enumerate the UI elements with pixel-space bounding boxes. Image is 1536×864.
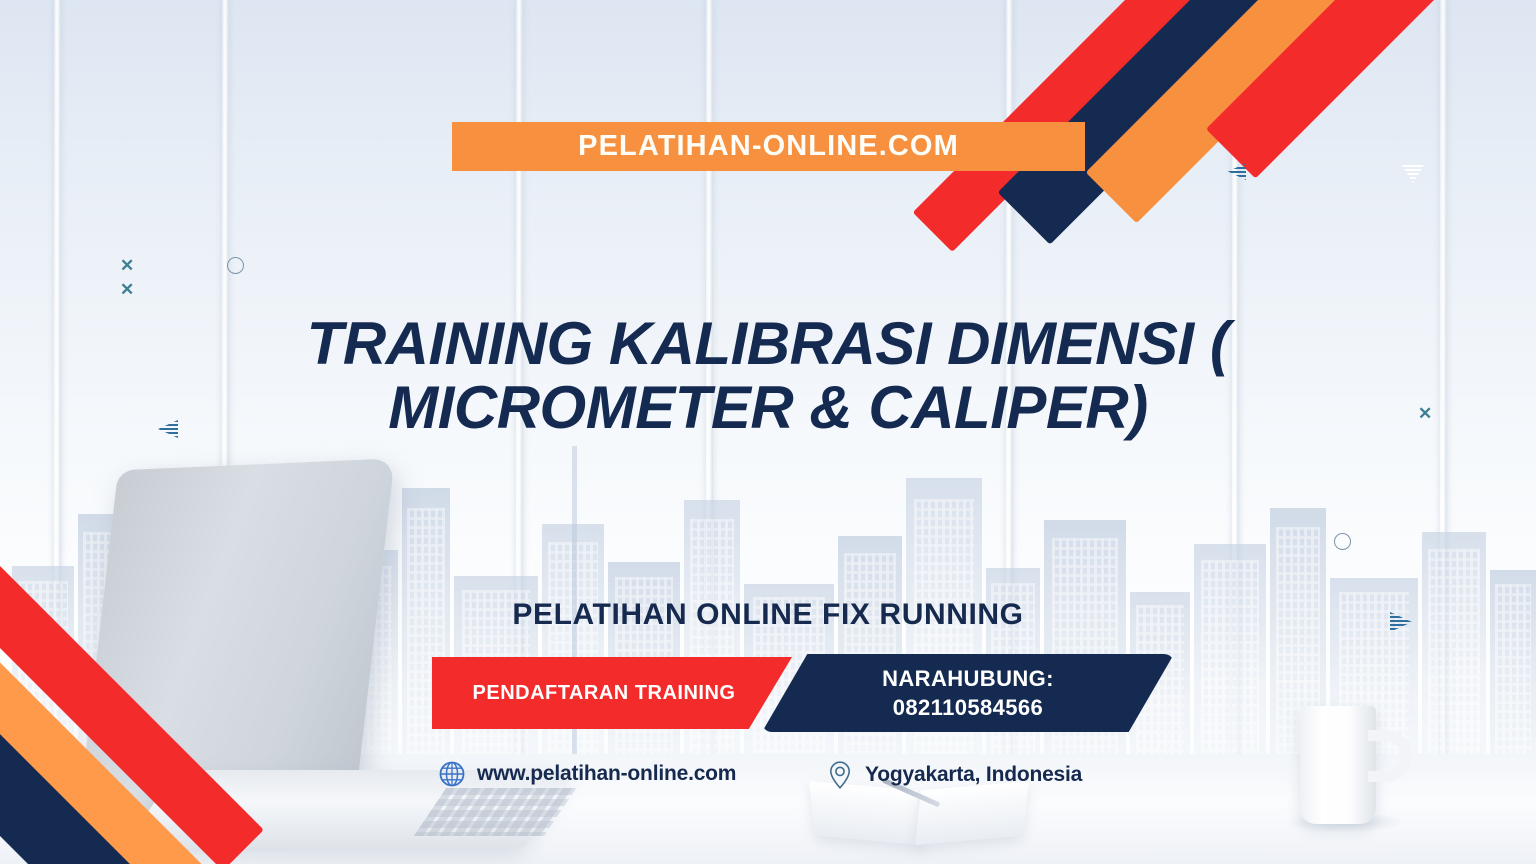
site-url-bar: PELATIHAN-ONLINE.COM [452, 122, 1085, 171]
website-label: www.pelatihan-online.com [477, 762, 736, 786]
location-contact[interactable]: Yogyakarta, Indonesia [826, 760, 1082, 790]
contact-panel[interactable]: NARAHUBUNG: 082110584566 [762, 654, 1174, 732]
contact-label: NARAHUBUNG: [882, 666, 1054, 692]
title-line-1: TRAINING KALIBRASI DIMENSI ( [150, 312, 1386, 376]
registration-button[interactable]: PENDAFTARAN TRAINING [432, 657, 792, 729]
footer-contacts: www.pelatihan-online.com Yogyakarta, Ind… [432, 756, 1192, 800]
banner-content: PELATIHAN-ONLINE.COM TRAINING KALIBRASI … [0, 0, 1536, 864]
location-label: Yogyakarta, Indonesia [865, 763, 1082, 787]
registration-label: PENDAFTARAN TRAINING [473, 682, 736, 705]
map-pin-icon [826, 760, 854, 790]
site-url-label: PELATIHAN-ONLINE.COM [578, 130, 959, 163]
cta-bar: PENDAFTARAN TRAINING NARAHUBUNG: 0821105… [432, 657, 1172, 729]
subtitle: PELATIHAN ONLINE FIX RUNNING [268, 598, 1268, 632]
globe-icon [438, 760, 466, 788]
page-title: TRAINING KALIBRASI DIMENSI ( MICROMETER … [150, 312, 1386, 439]
promotional-banner: ✕ ✕ ✕ PELATIHAN-ONLINE.COM TRAINING KALI… [0, 0, 1536, 864]
contact-phone[interactable]: 082110584566 [893, 695, 1043, 721]
website-contact[interactable]: www.pelatihan-online.com [438, 760, 736, 788]
title-line-2: MICROMETER & CALIPER) [150, 376, 1386, 440]
